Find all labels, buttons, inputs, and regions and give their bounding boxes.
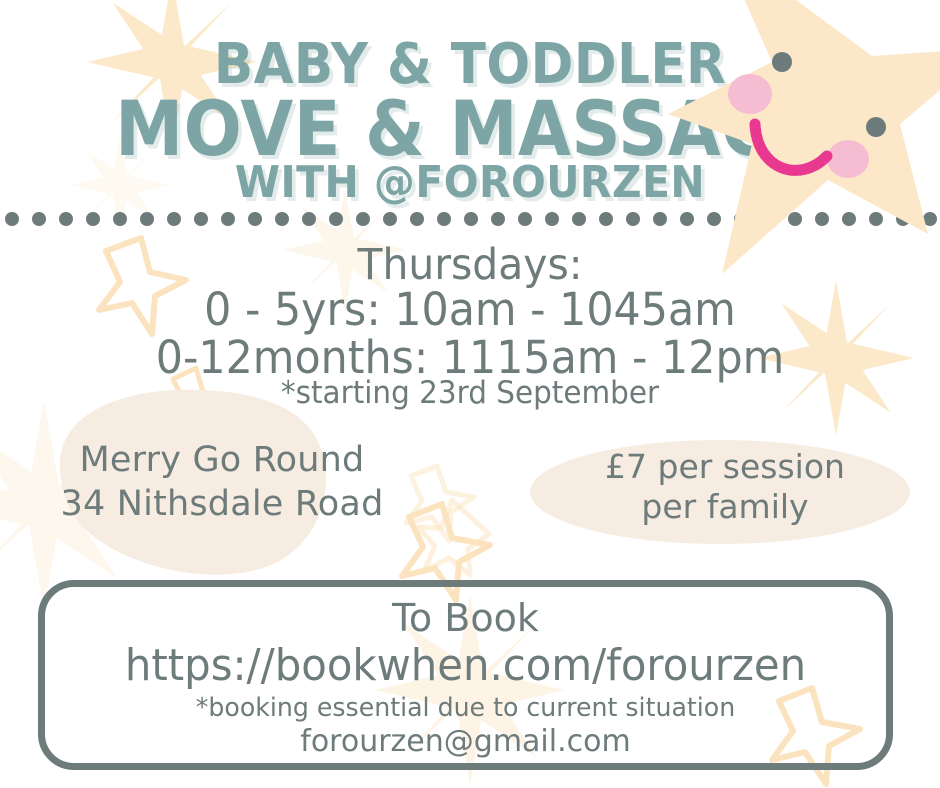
booking-note: *booking essential due to current situat… [51, 692, 880, 724]
header-line-with-handle: WITH @FOROURZEN [33, 157, 907, 208]
price-qualifier: per family [530, 487, 920, 527]
booking-url[interactable]: https://bookwhen.com/forourzen [59, 640, 871, 692]
price-amount: £7 per session [530, 447, 920, 487]
venue-block: Merry Go Round 34 Nithsdale Road [12, 438, 432, 526]
booking-email[interactable]: forourzen@gmail.com [38, 724, 893, 760]
price-block: £7 per session per family [530, 447, 920, 527]
booking-title: To Book [38, 596, 893, 640]
poster-canvas: BABY & TODDLER MOVE & MASSAGE WITH @FORO… [0, 0, 940, 788]
venue-address: 34 Nithsdale Road [12, 482, 432, 526]
schedule-session-1: 0 - 5yrs: 10am - 1045am [24, 283, 917, 336]
schedule-start-note: *starting 23rd September [24, 375, 917, 411]
booking-details: To Book https://bookwhen.com/forourzen *… [38, 580, 893, 770]
venue-name: Merry Go Round [12, 438, 432, 482]
